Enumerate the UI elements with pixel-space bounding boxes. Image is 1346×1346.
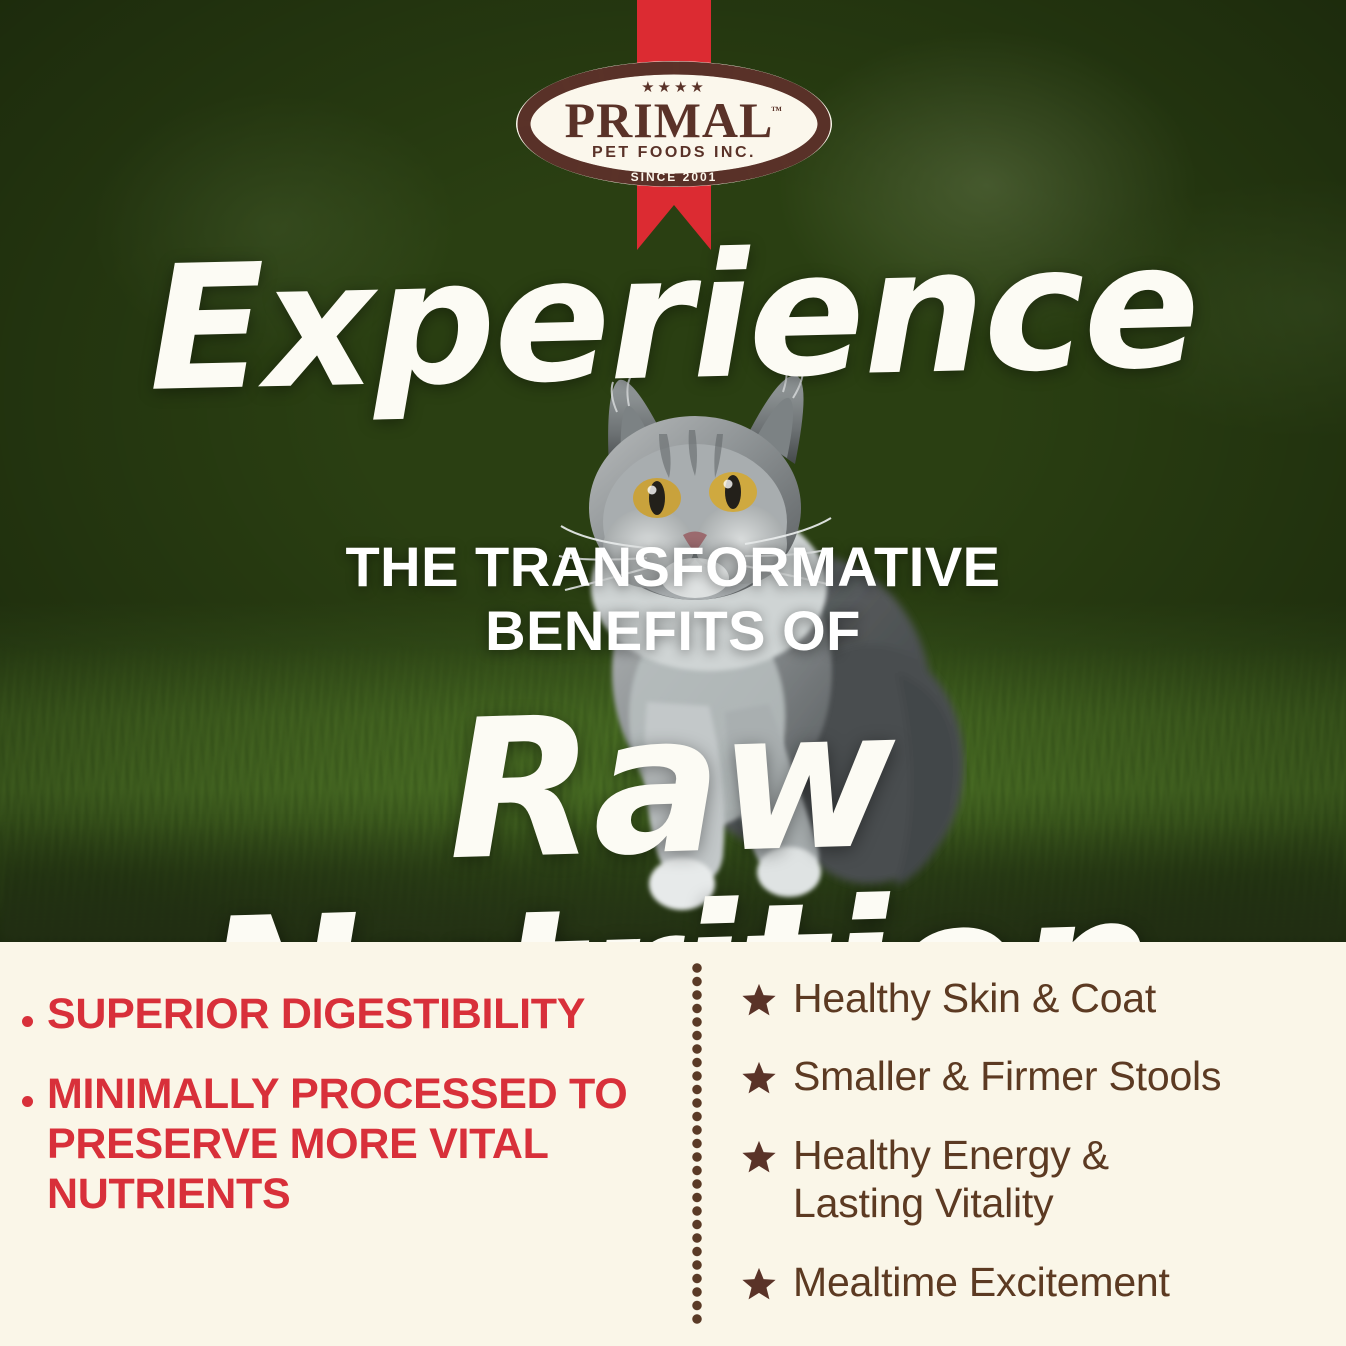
hero-subheadline: THE TRANSFORMATIVE BENEFITS OF: [0, 535, 1346, 663]
right-benefit-label: Healthy Energy & Lasting Vitality: [793, 1131, 1109, 1228]
hero-subheadline-line-1: THE TRANSFORMATIVE: [0, 535, 1346, 599]
left-benefit-list: SUPERIOR DIGESTIBILITY MINIMALLY PROCESS…: [22, 990, 662, 1250]
list-item: SUPERIOR DIGESTIBILITY: [22, 990, 662, 1040]
hero-script-headline-1: Experience: [0, 217, 1346, 419]
list-item: Healthy Energy & Lasting Vitality: [740, 1131, 1320, 1228]
right-benefit-label: Mealtime Excitement: [793, 1258, 1170, 1306]
list-item: Smaller & Firmer Stools: [740, 1052, 1320, 1100]
benefits-panel: SUPERIOR DIGESTIBILITY MINIMALLY PROCESS…: [0, 942, 1346, 1346]
star-icon: [740, 1138, 778, 1176]
right-benefit-list: Healthy Skin & Coat Smaller & Firmer Sto…: [740, 974, 1320, 1336]
left-benefit-label: MINIMALLY PROCESSED TO PRESERVE MORE VIT…: [47, 1070, 662, 1220]
star-icon: [740, 1265, 778, 1303]
bullet-dot-icon: [22, 1096, 33, 1107]
right-benefit-label: Healthy Skin & Coat: [793, 974, 1156, 1022]
star-icon: [740, 1059, 778, 1097]
right-benefit-label: Smaller & Firmer Stools: [793, 1052, 1221, 1100]
hero-subheadline-line-2: BENEFITS OF: [0, 599, 1346, 663]
left-benefit-label: SUPERIOR DIGESTIBILITY: [47, 990, 585, 1040]
dotted-divider: [691, 962, 703, 1326]
list-item: MINIMALLY PROCESSED TO PRESERVE MORE VIT…: [22, 1070, 662, 1220]
bullet-dot-icon: [22, 1016, 33, 1027]
svg-text:SINCE 2001: SINCE 2001: [631, 170, 718, 184]
list-item: Healthy Skin & Coat: [740, 974, 1320, 1022]
hero-script-headline-2: Raw Nutrition: [0, 671, 1346, 942]
list-item: Mealtime Excitement: [740, 1258, 1320, 1306]
svg-text:PET FOODS INC.: PET FOODS INC.: [592, 144, 756, 161]
svg-text:PRIMAL: PRIMAL: [565, 92, 774, 148]
star-icon: [740, 981, 778, 1019]
svg-text:™: ™: [771, 105, 782, 117]
hero-photo: ★★★★ PRIMAL ™ PET FOODS INC. SINCE 2001 …: [0, 0, 1346, 942]
primal-pet-foods-logo: ★★★★ PRIMAL ™ PET FOODS INC. SINCE 2001: [513, 58, 835, 190]
